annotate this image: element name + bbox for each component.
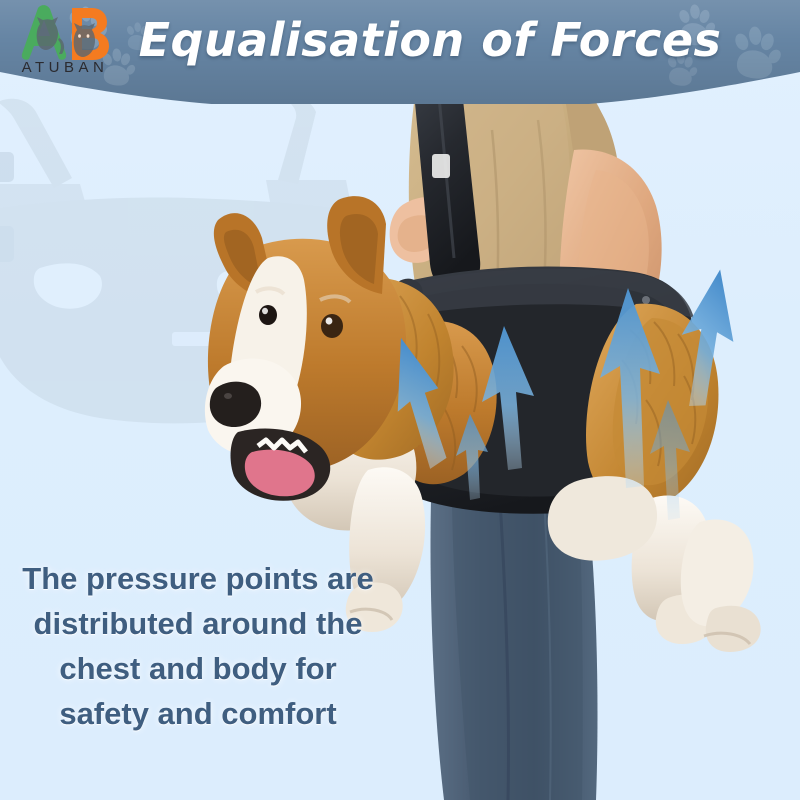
caption-text: The pressure points are distributed arou… <box>14 556 382 736</box>
brand-logo: ATUBAN <box>6 4 124 82</box>
caption-line-1: The pressure points are <box>14 556 382 601</box>
caption-line-2: distributed around the <box>14 601 382 646</box>
product-marketing-image: Equalisation of Forces <box>0 0 800 800</box>
brand-name: ATUBAN <box>6 59 124 76</box>
caption-line-4: safety and comfort <box>14 691 382 736</box>
caption-line-3: chest and body for <box>14 646 382 691</box>
logo-mark <box>14 4 114 62</box>
